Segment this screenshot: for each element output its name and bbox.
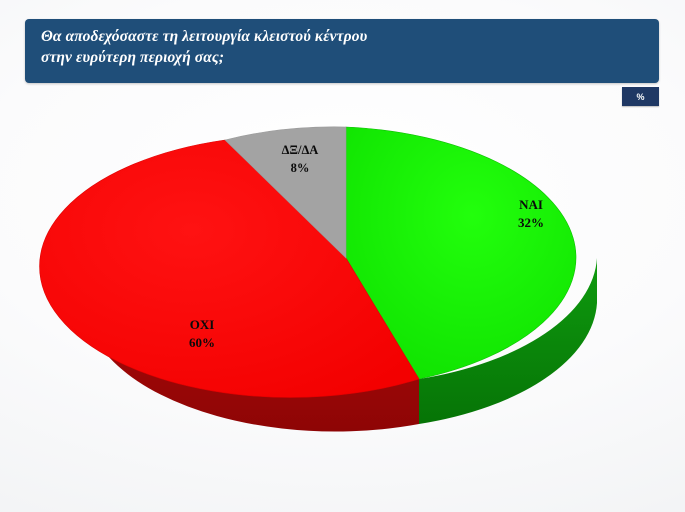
pie-label-oxi-text: ΟΧΙ [190,317,215,332]
pie-label-nai-text: ΝΑΙ [519,197,543,212]
page-title: Θα αποδεχόσαστε τη λειτουργία κλειστού κ… [41,26,649,68]
pie-label-dxda-value: 8% [291,161,310,175]
pie-label-dxda-text: ΔΞ/ΔΑ [282,143,319,157]
pie-chart-svg: ΝΑΙ 32% ΟΧΙ 60% ΔΞ/ΔΑ 8% [0,110,685,450]
pie-label-oxi-value: 60% [189,335,215,350]
pie-label-nai-value: 32% [518,215,544,230]
slide-canvas: Θα αποδεχόσαστε τη λειτουργία κλειστού κ… [0,0,685,512]
pie-chart: ΝΑΙ 32% ΟΧΙ 60% ΔΞ/ΔΑ 8% [0,110,685,450]
title-bar: Θα αποδεχόσαστε τη λειτουργία κλειστού κ… [25,19,659,83]
footer: OPEN alco The pulse of society [0,452,685,512]
percent-badge: % [622,87,659,106]
